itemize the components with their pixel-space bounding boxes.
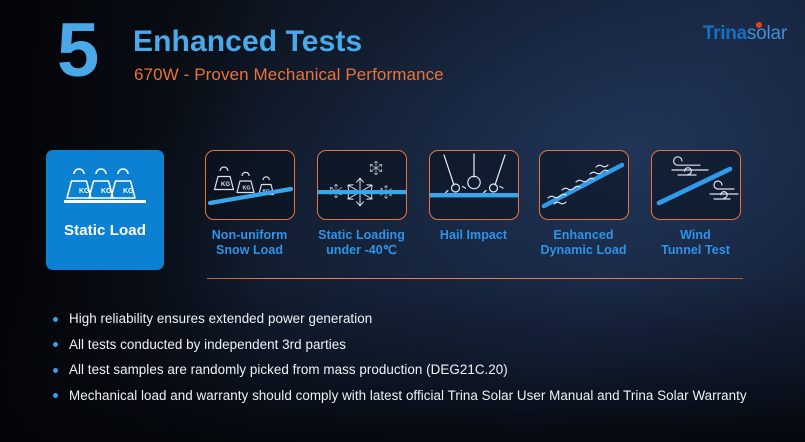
slide-number: 5 <box>57 13 97 89</box>
svg-text:KG: KG <box>79 188 90 195</box>
test-card-non-uniform-snow-load[interactable]: KG KG KG Non-uniform Snow Load <box>203 150 296 257</box>
bullet-dot-icon <box>53 368 58 373</box>
test-card-label: Static Load <box>46 222 164 239</box>
svg-text:KG: KG <box>101 188 112 195</box>
bullet-list: High reliability ensures extended power … <box>48 306 760 408</box>
test-card-label: Static Loading under -40℃ <box>315 228 408 257</box>
weights-on-beam-icon: KG KG KG <box>46 150 164 218</box>
slide-canvas: 5 Enhanced Tests 670W - Proven Mechanica… <box>0 0 805 442</box>
logo-brand-light: solar <box>747 23 787 44</box>
wind-icon <box>651 150 741 220</box>
page-subtitle: 670W - Proven Mechanical Performance <box>134 64 444 86</box>
test-card-hail-impact[interactable]: Hail Impact <box>427 150 520 243</box>
bullet-dot-icon <box>53 393 58 398</box>
dynamic-wave-icon <box>539 150 629 220</box>
tilted-weights-icon: KG KG KG <box>205 150 295 220</box>
test-card-label: Non-uniform Snow Load <box>203 228 296 257</box>
test-card-row: KG KG KG Static Load <box>0 150 805 275</box>
svg-text:KG: KG <box>123 188 134 195</box>
list-item: Mechanical load and warranty should comp… <box>48 383 760 409</box>
section-divider <box>207 278 743 279</box>
test-card-enhanced-dynamic-load[interactable]: Enhanced Dynamic Load <box>537 150 630 257</box>
test-card-static-load[interactable]: KG KG KG Static Load <box>46 150 164 270</box>
hail-pendulum-icon <box>429 150 519 220</box>
test-card-label: Wind Tunnel Test <box>649 228 742 257</box>
svg-text:KG: KG <box>221 182 230 188</box>
page-title: Enhanced Tests <box>133 25 362 59</box>
list-item: High reliability ensures extended power … <box>48 306 760 332</box>
trina-solar-logo: Trinasolar <box>703 23 787 45</box>
test-card-wind-tunnel-test[interactable]: Wind Tunnel Test <box>649 150 742 257</box>
bullet-dot-icon <box>53 317 58 322</box>
test-card-label: Enhanced Dynamic Load <box>537 228 630 257</box>
logo-brand-bold: Trina <box>703 23 747 44</box>
logo-dot-icon <box>756 22 762 28</box>
list-item: All test samples are randomly picked fro… <box>48 357 760 383</box>
test-card-label: Hail Impact <box>427 228 520 243</box>
bullet-dot-icon <box>53 342 58 347</box>
snowflake-icon <box>317 150 407 220</box>
test-card-static-loading-cold[interactable]: Static Loading under -40℃ <box>315 150 408 257</box>
list-item: All tests conducted by independent 3rd p… <box>48 332 760 358</box>
svg-text:KG: KG <box>242 186 250 192</box>
